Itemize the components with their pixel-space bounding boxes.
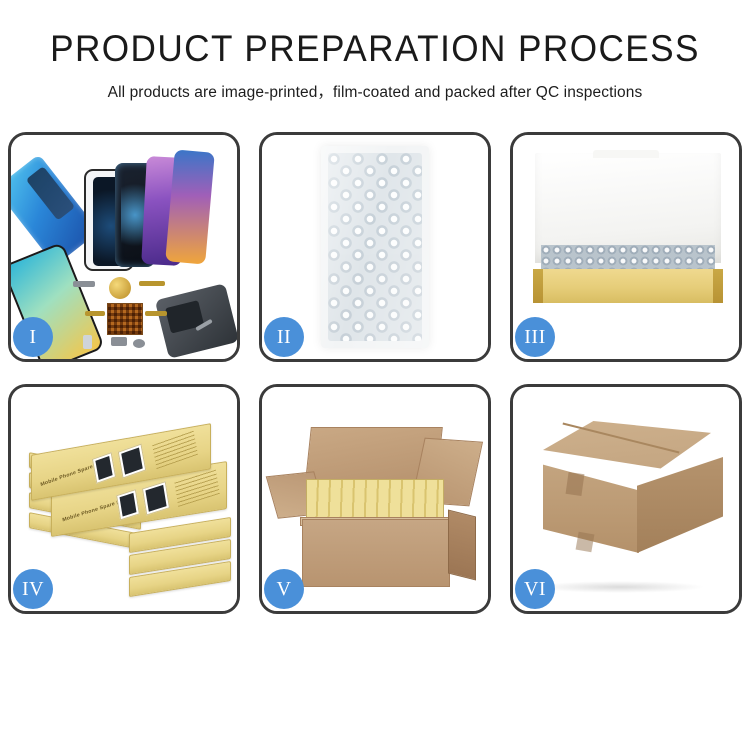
mailer-box-base bbox=[533, 269, 723, 303]
small-part-b bbox=[111, 337, 127, 346]
retail-box-stack: Mobile Phone Spare Parts Mobile Phone Sp… bbox=[25, 417, 231, 597]
process-step-4[interactable]: Mobile Phone Spare Parts Mobile Phone Sp… bbox=[8, 384, 240, 614]
step-6-badge: VI bbox=[515, 569, 555, 609]
step-4-badge: IV bbox=[13, 569, 53, 609]
small-part-d bbox=[83, 335, 92, 349]
small-part-c bbox=[133, 339, 145, 348]
sealed-carton bbox=[531, 421, 727, 583]
phone-back-housing bbox=[155, 283, 237, 359]
flex-cable-b bbox=[85, 311, 105, 316]
page-title: PRODUCT PREPARATION PROCESS bbox=[19, 30, 732, 69]
box-art-text-lines-b bbox=[152, 430, 198, 469]
open-carton bbox=[272, 421, 480, 587]
process-step-6[interactable]: VI bbox=[510, 384, 742, 614]
process-step-3[interactable]: III bbox=[510, 132, 742, 362]
step-3-badge: III bbox=[515, 317, 555, 357]
step-2-badge: II bbox=[264, 317, 304, 357]
carton-side-face bbox=[448, 510, 476, 581]
sealed-carton-side bbox=[637, 457, 723, 553]
box-art-screen-d bbox=[118, 444, 146, 479]
carton-shadow bbox=[535, 581, 705, 593]
process-step-grid: I II III bbox=[8, 132, 742, 614]
bubble-wrapped-contents bbox=[541, 245, 715, 271]
process-step-2[interactable]: II bbox=[259, 132, 491, 362]
step-5-badge: V bbox=[264, 569, 304, 609]
box-art-text-lines-a bbox=[174, 469, 220, 507]
page-header: PRODUCT PREPARATION PROCESS All products… bbox=[0, 0, 750, 102]
plastic-sheen bbox=[321, 146, 429, 348]
carton-tab-lower bbox=[576, 532, 595, 553]
camera-module-icon bbox=[109, 277, 131, 299]
page-subtitle: All products are image-printed，film-coat… bbox=[0, 80, 750, 102]
carton-front-face bbox=[302, 519, 450, 587]
small-part-a bbox=[73, 281, 95, 287]
box-art-screen-b bbox=[142, 481, 170, 515]
bubble-wrap-sheet bbox=[321, 146, 429, 348]
process-step-5[interactable]: V bbox=[259, 384, 491, 614]
flex-cable-a bbox=[139, 281, 165, 286]
step-1-badge: I bbox=[13, 317, 53, 357]
box-art-screen-c bbox=[92, 452, 116, 484]
box-art-screen-a bbox=[116, 489, 140, 520]
flex-cable-c bbox=[145, 311, 167, 316]
product-preparation-process-page: PRODUCT PREPARATION PROCESS All products… bbox=[0, 0, 750, 750]
carton-tab-upper bbox=[566, 472, 585, 496]
process-step-1[interactable]: I bbox=[8, 132, 240, 362]
ic-chip-grid bbox=[107, 303, 143, 335]
